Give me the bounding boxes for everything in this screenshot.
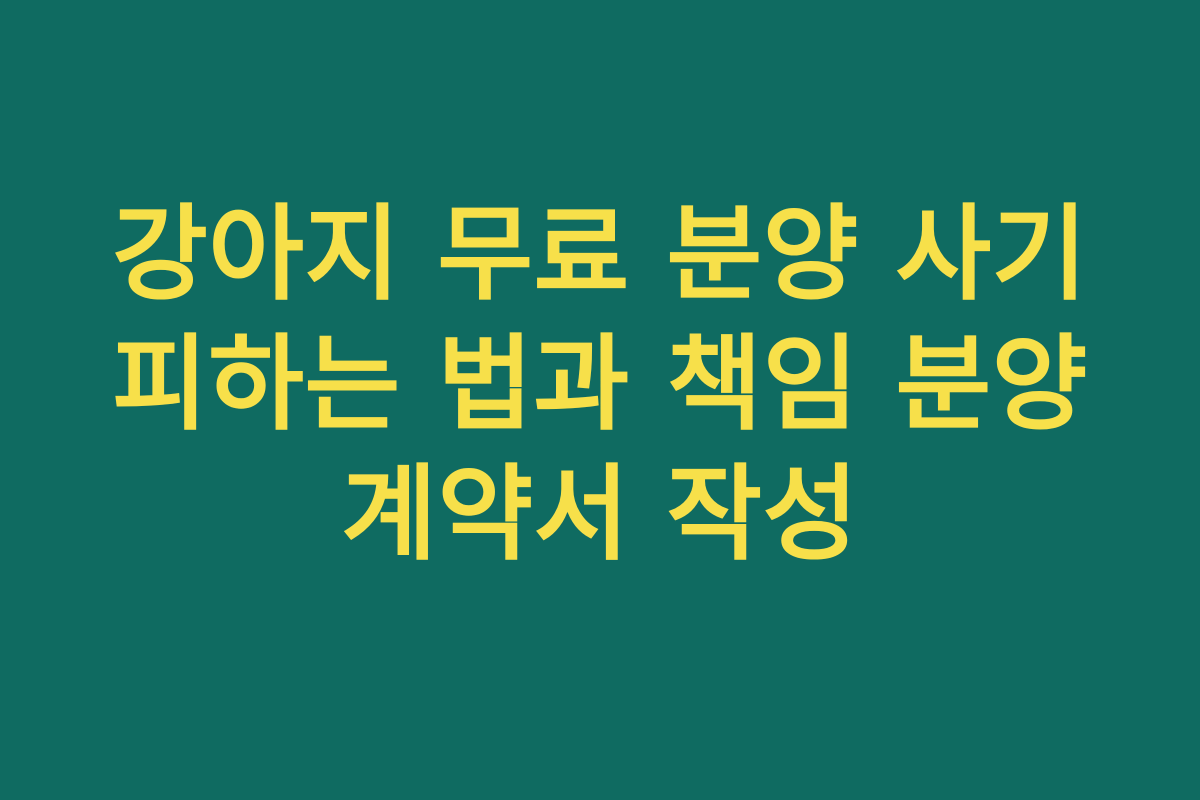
title-line-2: 피하는 법과 책임 분양 (60, 319, 1140, 449)
title-line-3: 계약서 작성 (60, 449, 1140, 579)
page-title: 강아지 무료 분양 사기 피하는 법과 책임 분양 계약서 작성 (60, 189, 1140, 579)
title-line-1: 강아지 무료 분양 사기 (60, 189, 1140, 319)
banner-background: 강아지 무료 분양 사기 피하는 법과 책임 분양 계약서 작성 (0, 0, 1200, 800)
